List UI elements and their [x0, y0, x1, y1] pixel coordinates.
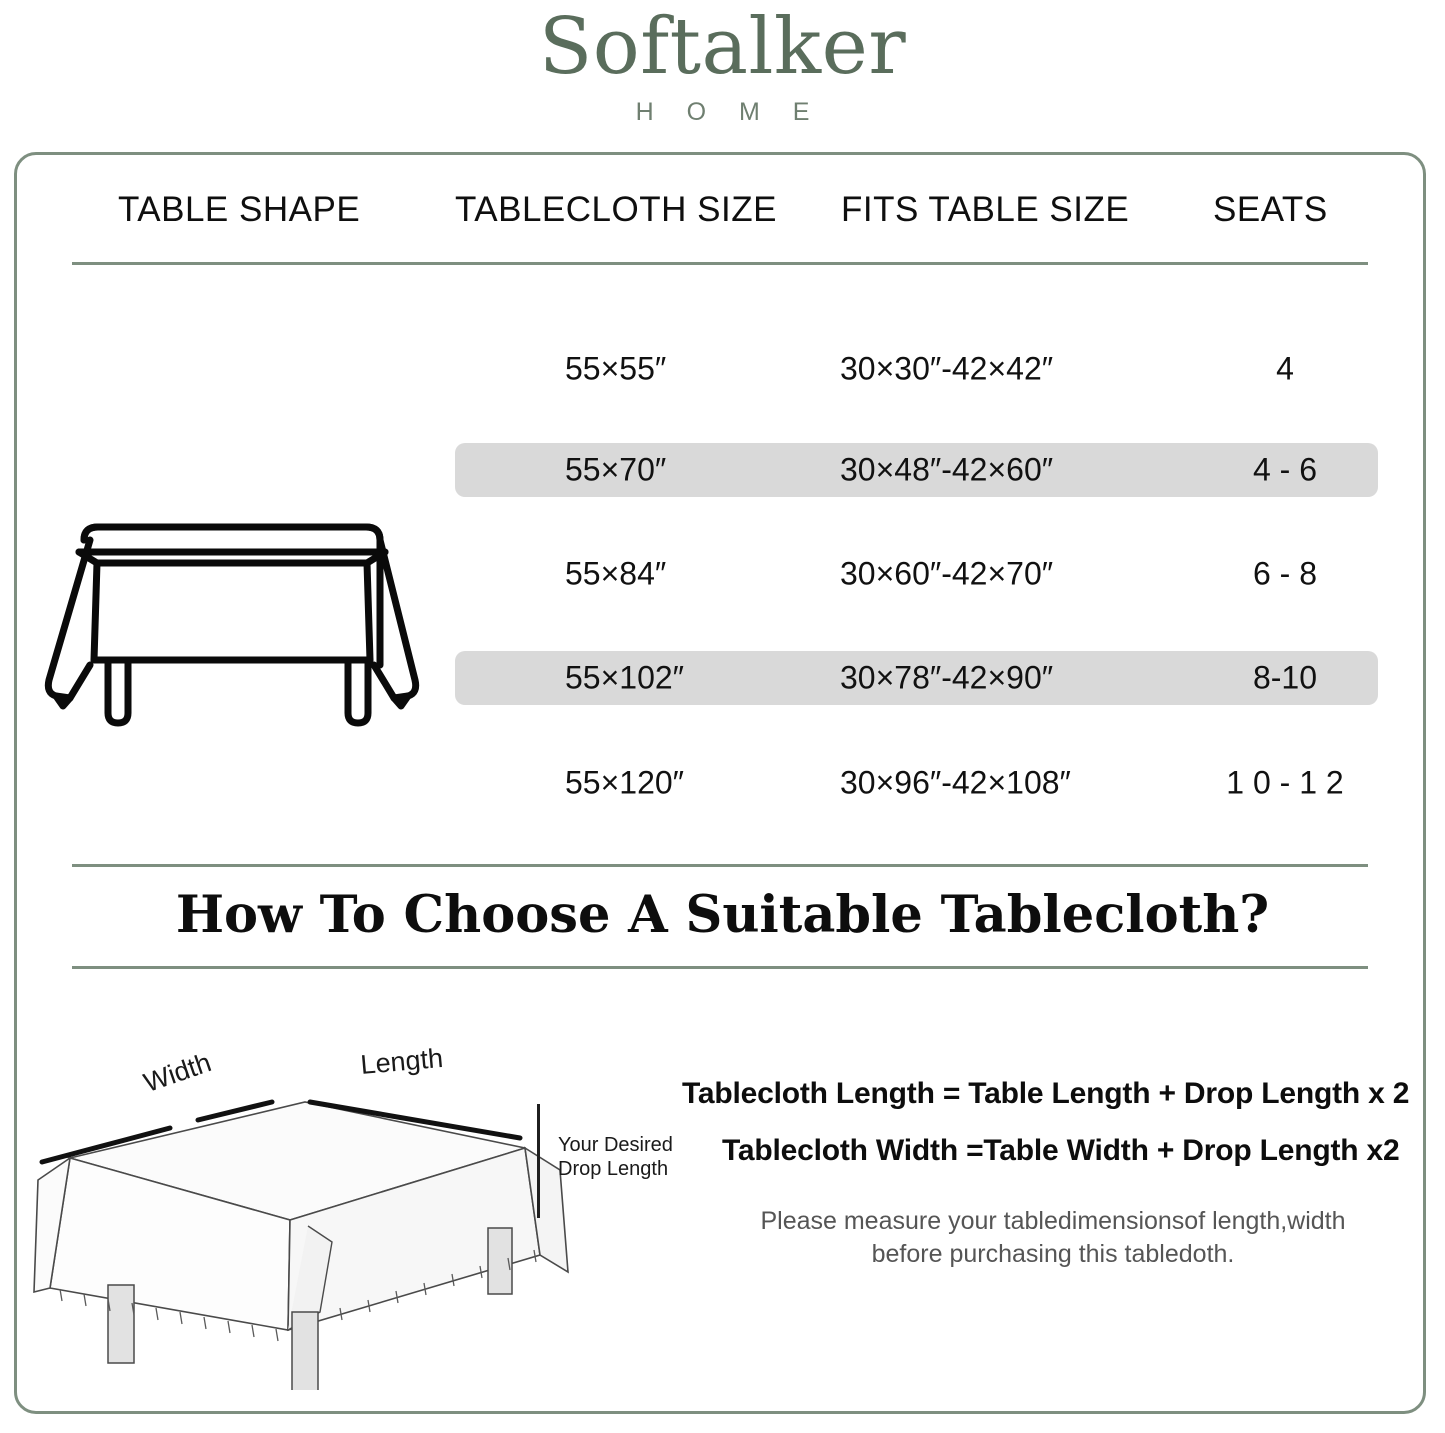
- table-row: 55×84″ 30×60″-42×70″ 6 - 8: [455, 547, 1378, 601]
- cell-seats: 4 - 6: [1225, 452, 1345, 489]
- table-row: 55×70″ 30×48″-42×60″ 4 - 6: [455, 443, 1378, 497]
- cell-fits-table-size: 30×30″-42×42″: [840, 351, 1053, 388]
- drop-length-measure-line: [537, 1104, 540, 1218]
- cell-seats: 6 - 8: [1225, 556, 1345, 593]
- cell-tablecloth-size: 55×120″: [565, 765, 684, 802]
- formula-tablecloth-width: Tablecloth Width =Table Width + Drop Len…: [722, 1134, 1400, 1168]
- cell-seats: 4: [1225, 351, 1345, 388]
- cell-fits-table-size: 30×48″-42×60″: [840, 452, 1053, 489]
- cell-seats: 8-10: [1225, 660, 1345, 697]
- cell-fits-table-size: 30×96″-42×108″: [840, 765, 1071, 802]
- product-size-chart-infographic: Softalker H O M E TABLE SHAPE TABLECLOTH…: [0, 0, 1445, 1433]
- cell-tablecloth-size: 55×55″: [565, 351, 666, 388]
- table-row: 55×120″ 30×96″-42×108″ 1 0 - 1 2: [455, 756, 1378, 810]
- cell-tablecloth-size: 55×70″: [565, 452, 666, 489]
- cell-tablecloth-size: 55×102″: [565, 660, 684, 697]
- cell-fits-table-size: 30×78″-42×90″: [840, 660, 1053, 697]
- note-line-1: Please measure your tabledimensionsof le…: [700, 1205, 1406, 1238]
- drop-label-line-2: Drop Length: [558, 1158, 668, 1180]
- formula-tablecloth-length: Tablecloth Length = Table Length + Drop …: [682, 1077, 1409, 1111]
- guide-heading: How To Choose A Suitable Tablecloth?: [0, 885, 1445, 945]
- cell-seats: 1 0 - 1 2: [1225, 765, 1345, 802]
- note-line-2: before purchasing this tabledoth.: [700, 1238, 1406, 1271]
- table-row: 55×55″ 30×30″-42×42″ 4: [455, 342, 1378, 396]
- table-row: 55×102″ 30×78″-42×90″ 8-10: [455, 651, 1378, 705]
- drop-label-line-1: Your Desired: [558, 1134, 673, 1156]
- diagram-label-drop-length: Your Desired Drop Length: [558, 1133, 673, 1182]
- cell-fits-table-size: 30×60″-42×70″: [840, 556, 1053, 593]
- measurement-note: Please measure your tabledimensionsof le…: [700, 1205, 1406, 1272]
- cell-tablecloth-size: 55×84″: [565, 556, 666, 593]
- tablecloth-perspective-diagram: [20, 1030, 700, 1390]
